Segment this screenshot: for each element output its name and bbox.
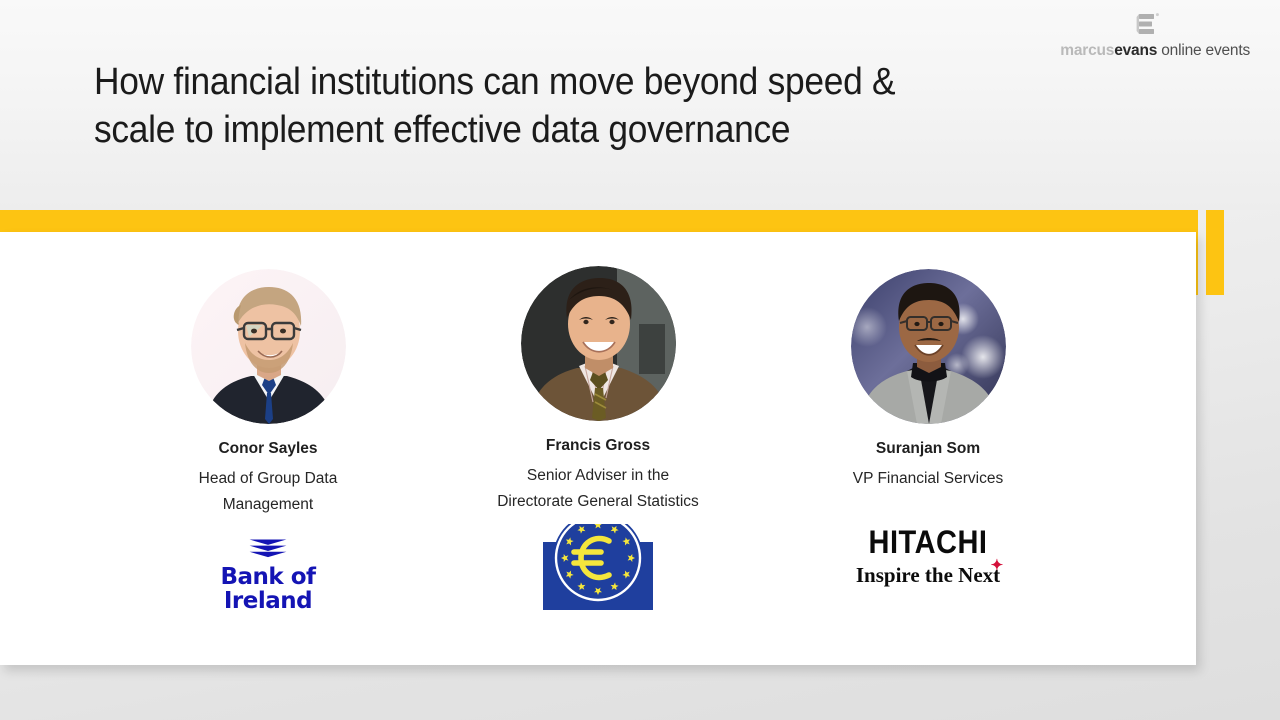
speaker-role: VP Financial Services <box>763 466 1093 492</box>
company-logo: HITACHI Inspire the Next ✦ <box>763 514 1093 600</box>
speaker-role-line-2: Directorate General Statistics <box>497 493 699 510</box>
brand-word-online-events: online events <box>1161 42 1250 59</box>
hitachi-tagline: Inspire the Next ✦ <box>856 565 1000 586</box>
presentation-slide: marcusevans online events How financial … <box>0 0 1280 720</box>
speaker-name: Suranjan Som <box>763 440 1093 458</box>
speaker-list: Conor Sayles Head of Group Data Manageme… <box>0 232 1196 665</box>
slide-title-line-1: How financial institutions can move beyo… <box>94 61 895 103</box>
hitachi-tagline-text: Inspire the Next <box>856 563 1000 587</box>
hitachi-spark-icon: ✦ <box>991 559 1004 574</box>
avatar <box>191 269 346 424</box>
marcus-evans-logo: marcusevans online events <box>1040 12 1250 60</box>
speaker-role-line-1: Senior Adviser in the <box>527 467 669 484</box>
accent-bar-vertical <box>1206 210 1224 295</box>
speaker-role-line-1: Head of Group Data <box>199 470 338 487</box>
brand-word-evans: evans <box>1114 42 1157 59</box>
speaker-role-line-1: VP Financial Services <box>853 470 1003 487</box>
speaker-name: Conor Sayles <box>103 440 433 458</box>
slide-title: How financial institutions can move beyo… <box>94 58 1005 154</box>
accent-bar-horizontal <box>0 210 1198 232</box>
avatar <box>521 266 676 421</box>
bank-of-ireland-logo-icon: Bank of Ireland <box>220 538 315 613</box>
boi-logo-line-1: Bank of <box>220 565 315 589</box>
boi-logo-line-2: Ireland <box>220 589 315 613</box>
speaker-card: Conor Sayles Head of Group Data Manageme… <box>103 269 433 618</box>
speaker-name: Francis Gross <box>433 437 763 455</box>
hitachi-logo-icon: HITACHI Inspire the Next ✦ <box>856 529 1000 586</box>
marcus-evans-wordmark: marcusevans online events <box>1060 42 1250 60</box>
speaker-role-line-2: Management <box>223 496 313 513</box>
hitachi-wordmark: HITACHI <box>856 527 1000 559</box>
company-logo <box>433 526 763 612</box>
speaker-card: Suranjan Som VP Financial Services HITAC… <box>763 269 1093 600</box>
speaker-card: Francis Gross Senior Adviser in the Dire… <box>433 266 763 612</box>
avatar <box>851 269 1006 424</box>
european-central-bank-logo-icon <box>543 524 653 615</box>
marcus-evans-e-mark-icon <box>1136 12 1162 38</box>
speaker-role: Head of Group Data Management <box>103 466 433 518</box>
company-logo: Bank of Ireland <box>103 532 433 618</box>
speaker-role: Senior Adviser in the Directorate Genera… <box>433 463 763 515</box>
brand-word-marcus: marcus <box>1060 42 1114 59</box>
slide-title-line-2: scale to implement effective data govern… <box>94 109 790 151</box>
